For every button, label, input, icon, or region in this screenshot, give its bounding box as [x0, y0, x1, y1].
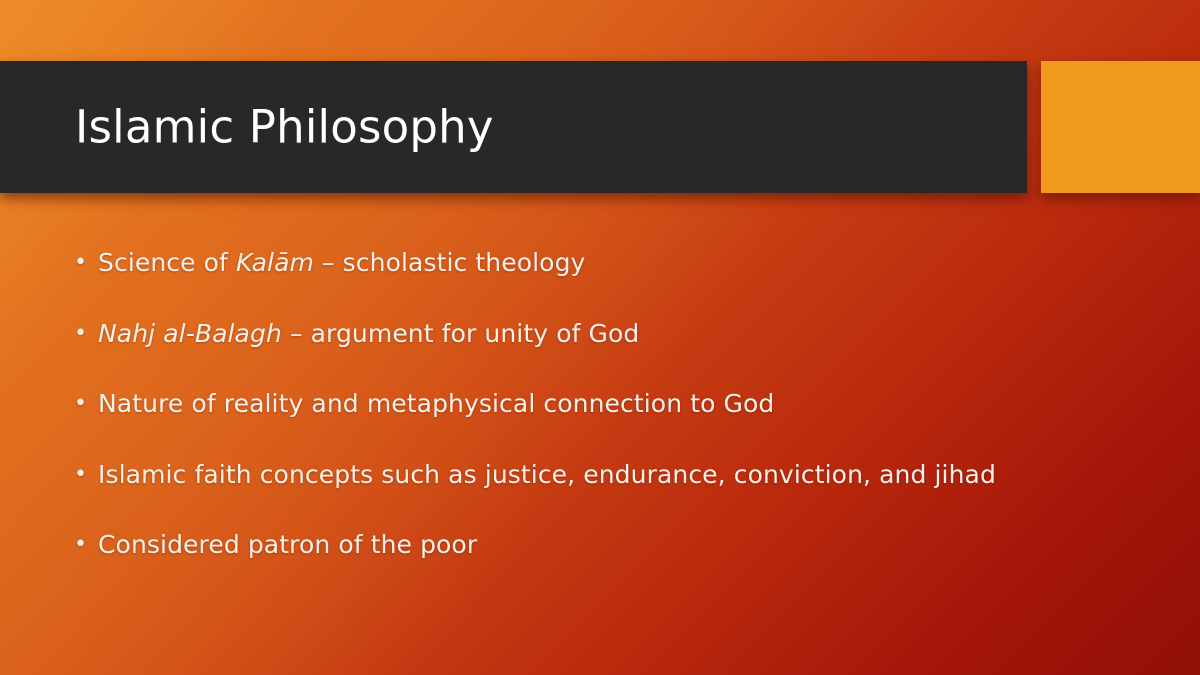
bullet-text-emphasis: Kalām [236, 248, 314, 277]
list-item: Science of Kalām – scholastic theology [72, 248, 1152, 279]
accent-block [1041, 61, 1200, 193]
list-item: Nahj al-Balagh – argument for unity of G… [72, 319, 1152, 350]
page-title: Islamic Philosophy [75, 102, 494, 152]
bullet-text-emphasis: Nahj al-Balagh [98, 319, 282, 348]
bullet-text-prefix: Islamic faith concepts such as justice, … [98, 460, 996, 489]
bullet-text-prefix: Considered patron of the poor [98, 530, 477, 559]
bullet-text-suffix: – argument for unity of God [282, 319, 639, 348]
title-bar: Islamic Philosophy [0, 61, 1027, 193]
bullet-list: Science of Kalām – scholastic theology N… [72, 248, 1152, 561]
bullet-text-prefix: Science of [98, 248, 236, 277]
list-item: Islamic faith concepts such as justice, … [72, 460, 1152, 491]
bullet-text-suffix: – scholastic theology [314, 248, 585, 277]
presentation-slide: Islamic Philosophy Science of Kalām – sc… [0, 0, 1200, 675]
list-item: Nature of reality and metaphysical conne… [72, 389, 1152, 420]
bullet-text-prefix: Nature of reality and metaphysical conne… [98, 389, 774, 418]
list-item: Considered patron of the poor [72, 530, 1152, 561]
